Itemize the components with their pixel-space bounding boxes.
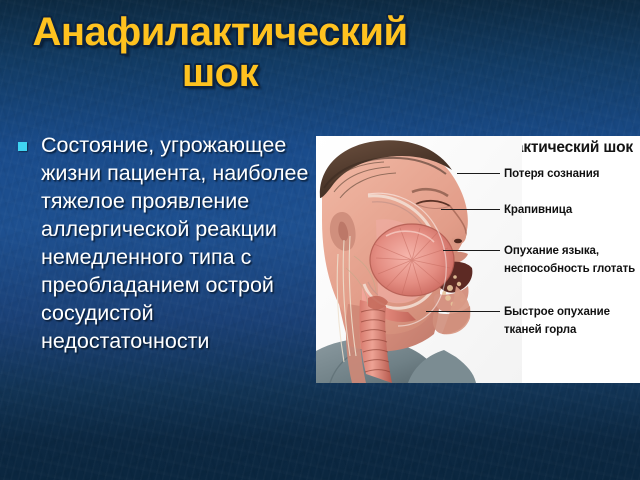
body-content: Состояние, угрожающее жизни пациента, на… — [18, 132, 310, 356]
callout-line-2: тканей горла — [504, 322, 610, 340]
square-bullet-icon — [18, 142, 27, 151]
callout-leader-line — [443, 250, 500, 251]
slide: Анафилактический шок Состояние, угрожающ… — [0, 0, 640, 480]
title-line-1: Анафилактический — [0, 12, 440, 53]
callout-label-tongue-swelling: Опухание языка, неспособность глотать — [504, 243, 635, 279]
callout-leader-line — [426, 311, 500, 312]
bullet-text: Состояние, угрожающее жизни пациента, на… — [41, 132, 310, 356]
callout-line-1: Крапивница — [504, 204, 572, 216]
callout-label-throat-swelling: Быстрое опухание тканей горла — [504, 304, 610, 340]
figure-panel: Анафилактический шок — [316, 136, 640, 383]
callout-line-2: неспособность глотать — [504, 261, 635, 279]
callout-leader-line — [441, 209, 500, 210]
callout-label-loss-of-consciousness: Потеря сознания — [504, 166, 599, 184]
page-title: Анафилактический шок — [0, 12, 440, 94]
callout-line-1: Опухание языка, — [504, 245, 599, 257]
title-line-2: шок — [0, 53, 440, 94]
list-item: Состояние, угрожающее жизни пациента, на… — [18, 132, 310, 356]
callout-label-urticaria: Крапивница — [504, 202, 572, 220]
callout-line-1: Потеря сознания — [504, 168, 599, 180]
callout-leader-line — [457, 173, 500, 174]
callout-line-1: Быстрое опухание — [504, 306, 610, 318]
